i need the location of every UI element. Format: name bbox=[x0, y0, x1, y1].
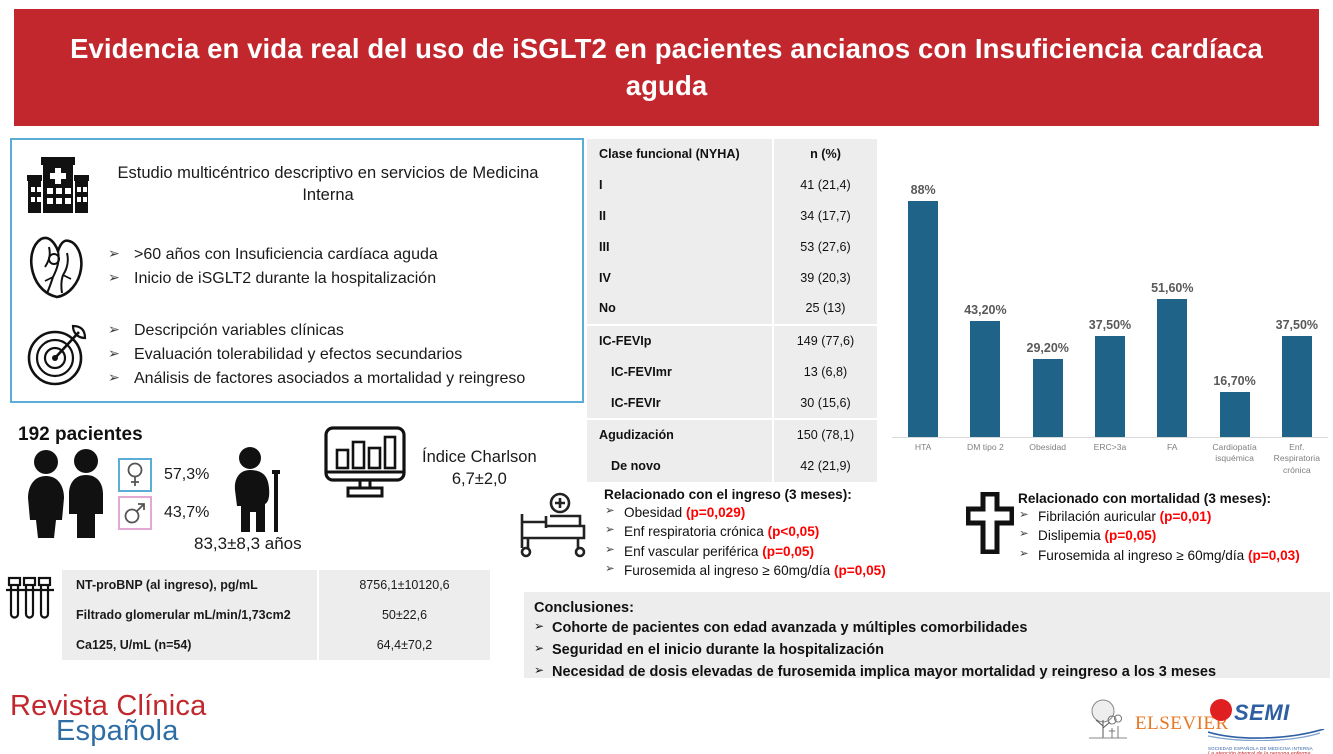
row-label: IV bbox=[587, 262, 773, 293]
list-item: Furosemida al ingreso ≥ 60mg/día (p=0,03… bbox=[1018, 546, 1300, 565]
table-row: IC-FEVIp 149 (77,6) bbox=[587, 325, 877, 357]
row-value: 25 (13) bbox=[773, 293, 877, 325]
p-value: (p=0,029) bbox=[686, 505, 745, 520]
male-percent: 43,7% bbox=[164, 504, 209, 522]
list-item: Fibrilación auricular (p=0,01) bbox=[1018, 507, 1300, 526]
p-value: (p=0,05) bbox=[834, 563, 886, 578]
x-axis-tick-label: Obesidad bbox=[1017, 442, 1079, 476]
bar bbox=[1157, 299, 1187, 437]
list-item: Cohorte de pacientes con edad avanzada y… bbox=[534, 617, 1330, 639]
lab-value: 64,4±70,2 bbox=[318, 630, 490, 660]
row-label: III bbox=[587, 231, 773, 262]
bar-group: 16,70% bbox=[1203, 148, 1265, 437]
finding-text: Furosemida al ingreso ≥ 60mg/día bbox=[1038, 548, 1248, 563]
mean-age: 83,3±8,3 años bbox=[194, 534, 302, 554]
objectives-list: Descripción variables clínicas Evaluació… bbox=[104, 319, 574, 391]
findings-admission: Relacionado con el ingreso (3 meses): Ob… bbox=[604, 487, 886, 580]
row-value: 30 (15,6) bbox=[773, 387, 877, 419]
row-value: 53 (27,6) bbox=[773, 231, 877, 262]
table-row: I 41 (21,4) bbox=[587, 170, 877, 201]
finding-text: Fibrilación auricular bbox=[1038, 509, 1160, 524]
findings-mortality-title: Relacionado con mortalidad (3 meses): bbox=[1018, 491, 1300, 506]
list-item: Inicio de iSGLT2 durante la hospitalizac… bbox=[104, 267, 574, 291]
conclusions-box: Conclusiones: Cohorte de pacientes con e… bbox=[524, 592, 1330, 678]
x-axis-tick-label: DM tipo 2 bbox=[954, 442, 1016, 476]
bar-value-label: 37,50% bbox=[1089, 318, 1131, 332]
bar-value-label: 88% bbox=[911, 183, 936, 197]
elderly-person-icon bbox=[220, 446, 298, 539]
bar bbox=[908, 201, 938, 437]
female-percent: 57,3% bbox=[164, 466, 209, 484]
bar-value-label: 16,70% bbox=[1213, 374, 1255, 388]
row-value: 13 (6,8) bbox=[773, 356, 877, 387]
table-row: De novo 42 (21,9) bbox=[587, 451, 877, 482]
findings-admission-title: Relacionado con el ingreso (3 meses): bbox=[604, 487, 886, 502]
nyha-table: Clase funcional (NYHA) n (%) I 41 (21,4)… bbox=[587, 139, 877, 482]
bar-value-label: 37,50% bbox=[1276, 318, 1318, 332]
cross-icon bbox=[966, 492, 1014, 559]
table-row: NT-proBNP (al ingreso), pg/mL 8756,1±101… bbox=[62, 570, 490, 600]
bar bbox=[970, 321, 1000, 437]
methodology-panel: Estudio multicéntrico descriptivo en ser… bbox=[10, 138, 584, 403]
p-value: (p=0,05) bbox=[762, 544, 814, 559]
x-axis-tick-label: Cardiopatía isquémica bbox=[1203, 442, 1265, 476]
findings-mortality: Relacionado con mortalidad (3 meses): Fi… bbox=[1018, 491, 1300, 565]
finding-text: Enf vascular periférica bbox=[624, 544, 762, 559]
male-icon bbox=[118, 496, 152, 530]
lab-name: Filtrado glomerular mL/min/1,73cm2 bbox=[62, 600, 318, 630]
list-item: Análisis de factores asociados a mortali… bbox=[104, 367, 574, 391]
p-value: (p=0,05) bbox=[1104, 528, 1156, 543]
column-header-value: n (%) bbox=[773, 139, 877, 170]
table-row: IV 39 (20,3) bbox=[587, 262, 877, 293]
row-value: 149 (77,6) bbox=[773, 325, 877, 357]
objectives-row: Descripción variables clínicas Evaluació… bbox=[12, 310, 582, 400]
list-item: Obesidad (p=0,029) bbox=[604, 503, 886, 522]
bar-group: 43,20% bbox=[954, 148, 1016, 437]
semi-wordmark: SEMI bbox=[1234, 700, 1290, 726]
comorbidity-bar-chart: 88%43,20%29,20%37,50%51,60%16,70%37,50% … bbox=[884, 142, 1332, 480]
table-row: Filtrado glomerular mL/min/1,73cm2 50±22… bbox=[62, 600, 490, 630]
list-item: Enf respiratoria crónica (p<0,05) bbox=[604, 522, 886, 541]
x-axis-tick-label: HTA bbox=[892, 442, 954, 476]
target-icon bbox=[12, 322, 104, 388]
demographics-section: 192 pacientes 57,3% bbox=[10, 424, 584, 564]
row-value: 42 (21,9) bbox=[773, 451, 877, 482]
list-item: Furosemida al ingreso ≥ 60mg/día (p=0,05… bbox=[604, 561, 886, 580]
bar-group: 37,50% bbox=[1079, 148, 1141, 437]
list-item: >60 años con Insuficiencia cardíaca agud… bbox=[104, 243, 574, 267]
row-value: 41 (21,4) bbox=[773, 170, 877, 201]
lab-value: 50±22,6 bbox=[318, 600, 490, 630]
x-axis-tick-label: ERC>3a bbox=[1079, 442, 1141, 476]
semi-logo: SEMI SOCIEDAD ESPAÑOLA DE MEDICINA INTER… bbox=[1208, 697, 1326, 754]
finding-text: Furosemida al ingreso ≥ 60mg/día bbox=[624, 563, 834, 578]
row-label: No bbox=[587, 293, 773, 325]
table-row: No 25 (13) bbox=[587, 293, 877, 325]
row-value: 34 (17,7) bbox=[773, 201, 877, 232]
female-icon bbox=[118, 458, 152, 492]
charlson-value: 6,7±2,0 bbox=[422, 468, 537, 490]
list-item: Necesidad de dosis elevadas de furosemid… bbox=[534, 661, 1330, 683]
patient-count: 192 pacientes bbox=[18, 424, 143, 446]
finding-text: Obesidad bbox=[624, 505, 686, 520]
list-item: Descripción variables clínicas bbox=[104, 319, 574, 343]
heart-icon bbox=[12, 233, 104, 301]
table-row: IC-FEVImr 13 (6,8) bbox=[587, 356, 877, 387]
bar bbox=[1282, 336, 1312, 437]
p-value: (p<0,05) bbox=[768, 524, 820, 539]
female-row: 57,3% bbox=[118, 456, 209, 494]
methodology-heading-row: Estudio multicéntrico descriptivo en ser… bbox=[12, 140, 582, 224]
lab-name: Ca125, U/mL (n=54) bbox=[62, 630, 318, 660]
hospital-bed-icon bbox=[516, 492, 590, 563]
semi-red-dot-icon bbox=[1208, 697, 1234, 728]
male-row: 43,7% bbox=[118, 494, 209, 532]
list-item: Seguridad en el inicio durante la hospit… bbox=[534, 639, 1330, 661]
row-label: De novo bbox=[587, 451, 773, 482]
row-value: 150 (78,1) bbox=[773, 419, 877, 451]
row-value: 39 (20,3) bbox=[773, 262, 877, 293]
lab-name: NT-proBNP (al ingreso), pg/mL bbox=[62, 570, 318, 600]
charlson-label-text: Índice Charlson bbox=[422, 448, 537, 466]
page-title: Evidencia en vida real del uso de iSGLT2… bbox=[53, 31, 1280, 104]
finding-text: Dislipemia bbox=[1038, 528, 1104, 543]
chart-bars: 88%43,20%29,20%37,50%51,60%16,70%37,50% bbox=[892, 148, 1328, 437]
chart-plot-area: 88%43,20%29,20%37,50%51,60%16,70%37,50% bbox=[892, 148, 1328, 438]
revista-clinica-espanola-logo: Revista Clínica Española bbox=[10, 690, 206, 748]
semi-swoosh-icon bbox=[1208, 729, 1326, 741]
bar bbox=[1220, 392, 1250, 437]
table-row: Agudización 150 (78,1) bbox=[587, 419, 877, 451]
bar-value-label: 43,20% bbox=[964, 303, 1006, 317]
p-value: (p=0,03) bbox=[1248, 548, 1300, 563]
table-header-row: Clase funcional (NYHA) n (%) bbox=[587, 139, 877, 170]
table-row: Ca125, U/mL (n=54) 64,4±70,2 bbox=[62, 630, 490, 660]
row-label: IC-FEVIr bbox=[587, 387, 773, 419]
findings-mortality-list: Fibrilación auricular (p=0,01) Dislipemi… bbox=[1018, 507, 1300, 565]
charlson-index: Índice Charlson 6,7±2,0 bbox=[422, 446, 537, 491]
bar-group: 29,20% bbox=[1017, 148, 1079, 437]
row-label: Agudización bbox=[587, 419, 773, 451]
title-banner: Evidencia en vida real del uso de iSGLT2… bbox=[14, 9, 1319, 126]
findings-admission-list: Obesidad (p=0,029) Enf respiratoria crón… bbox=[604, 503, 886, 580]
list-item: Enf vascular periférica (p=0,05) bbox=[604, 542, 886, 561]
chart-x-axis-labels: HTADM tipo 2ObesidadERC>3aFACardiopatía … bbox=[892, 442, 1328, 476]
inclusion-criteria-list: >60 años con Insuficiencia cardíaca agud… bbox=[104, 243, 574, 291]
bar-group: 51,60% bbox=[1141, 148, 1203, 437]
lab-value: 8756,1±10120,6 bbox=[318, 570, 490, 600]
hospital-icon bbox=[12, 153, 104, 215]
inclusion-criteria-row: >60 años con Insuficiencia cardíaca agud… bbox=[12, 224, 582, 310]
row-label: II bbox=[587, 201, 773, 232]
elsevier-tree-icon bbox=[1085, 698, 1131, 749]
bar-group: 88% bbox=[892, 148, 954, 437]
column-header-label: Clase funcional (NYHA) bbox=[587, 139, 773, 170]
bar-value-label: 51,60% bbox=[1151, 281, 1193, 295]
gender-breakdown: 57,3% 43,7% bbox=[118, 456, 209, 532]
table-row: II 34 (17,7) bbox=[587, 201, 877, 232]
lab-values-table: NT-proBNP (al ingreso), pg/mL 8756,1±101… bbox=[62, 570, 490, 660]
conclusions-title: Conclusiones: bbox=[534, 600, 1330, 616]
finding-text: Enf respiratoria crónica bbox=[624, 524, 768, 539]
bar bbox=[1095, 336, 1125, 437]
test-tubes-icon bbox=[6, 574, 54, 631]
list-item: Dislipemia (p=0,05) bbox=[1018, 526, 1300, 545]
methodology-heading: Estudio multicéntrico descriptivo en ser… bbox=[104, 162, 574, 207]
conclusions-list: Cohorte de pacientes con edad avanzada y… bbox=[534, 617, 1330, 683]
poster-root: Evidencia en vida real del uso de iSGLT2… bbox=[0, 0, 1333, 754]
p-value: (p=0,01) bbox=[1160, 509, 1212, 524]
row-label: I bbox=[587, 170, 773, 201]
bar-group: 37,50% bbox=[1266, 148, 1328, 437]
x-axis-tick-label: FA bbox=[1141, 442, 1203, 476]
list-item: Evaluación tolerabilidad y efectos secun… bbox=[104, 343, 574, 367]
row-label: IC-FEVImr bbox=[587, 356, 773, 387]
bar bbox=[1033, 359, 1063, 437]
table-row: IC-FEVIr 30 (15,6) bbox=[587, 387, 877, 419]
people-icon bbox=[20, 448, 116, 545]
x-axis-tick-label: Enf. Respiratoria crónica bbox=[1266, 442, 1328, 476]
row-label: IC-FEVIp bbox=[587, 325, 773, 357]
monitor-chart-icon bbox=[320, 424, 412, 509]
bar-value-label: 29,20% bbox=[1027, 341, 1069, 355]
table-row: III 53 (27,6) bbox=[587, 231, 877, 262]
